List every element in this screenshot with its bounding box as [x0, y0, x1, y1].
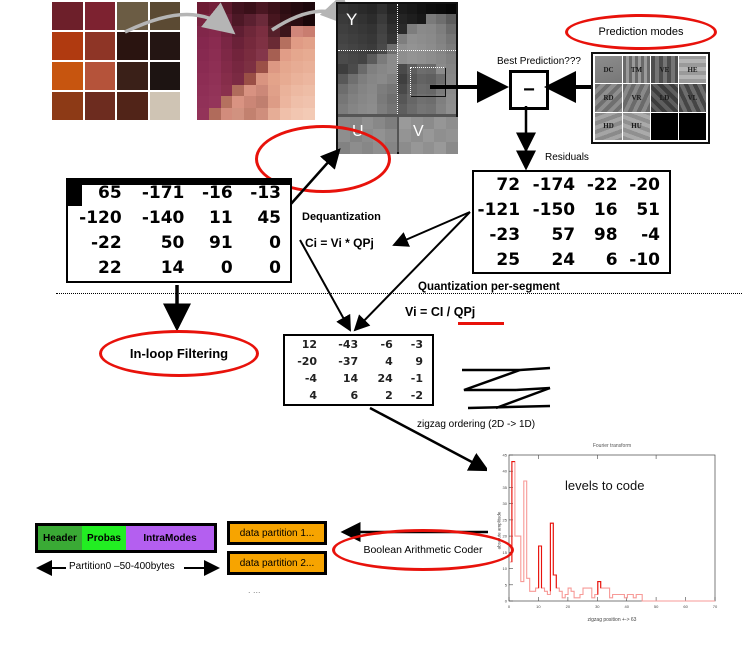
header-segment[interactable]: Header [38, 526, 82, 550]
probas-segment[interactable]: Probas [82, 526, 126, 550]
boolean-coder-label: Boolean Arithmetic Coder [363, 544, 482, 556]
intramodes-segment[interactable]: IntraModes [126, 526, 214, 550]
partition0-caption: Partition0 –50-400bytes [69, 561, 175, 572]
partition0-block: Header Probas IntraModes [35, 523, 217, 553]
data-partition-1[interactable]: data partition 1... [227, 521, 327, 545]
data-partition-2[interactable]: data partition 2... [227, 551, 327, 575]
data-partitions-ellipsis: . ... [248, 585, 261, 595]
boolean-coder-ellipse[interactable]: Boolean Arithmetic Coder [332, 529, 514, 571]
